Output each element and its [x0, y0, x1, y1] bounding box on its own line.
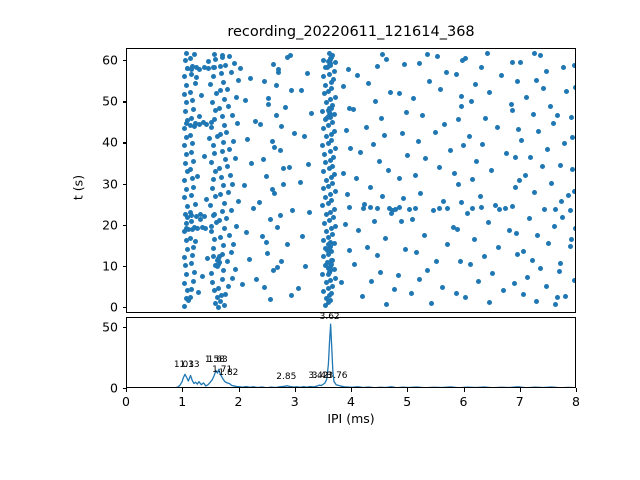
- scatter-point: [182, 304, 187, 309]
- scatter-point: [418, 191, 423, 196]
- scatter-point: [222, 97, 227, 102]
- scatter-point: [218, 64, 223, 69]
- scatter-point: [195, 174, 200, 179]
- scatter-point: [191, 107, 196, 112]
- scatter-point: [196, 290, 201, 295]
- scatter-point: [399, 219, 404, 224]
- scatter-point: [225, 259, 230, 264]
- scatter-point: [354, 176, 359, 181]
- scatter-point: [553, 207, 558, 212]
- scatter-point: [236, 78, 241, 83]
- scatter-point: [218, 235, 223, 240]
- scatter-point: [513, 155, 518, 160]
- scatter-point: [192, 270, 197, 275]
- scatter-point: [189, 116, 194, 121]
- scatter-point: [558, 261, 563, 266]
- scatter-point: [197, 114, 202, 119]
- scatter-point: [333, 146, 338, 151]
- scatter-point: [410, 217, 415, 222]
- scatter-point: [200, 274, 205, 279]
- scatter-point: [409, 291, 414, 296]
- scatter-point: [519, 138, 524, 143]
- scatter-point: [331, 77, 336, 82]
- scatter-point: [182, 195, 187, 200]
- scatter-point: [572, 63, 576, 68]
- scatter-point: [371, 142, 376, 147]
- peak-label: 3.62: [320, 312, 340, 322]
- scatter-point: [499, 73, 504, 78]
- scatter-point: [544, 69, 549, 74]
- histogram-x-tick-label: 0: [122, 394, 130, 409]
- scatter-point: [401, 196, 406, 201]
- scatter-point: [247, 257, 252, 262]
- scatter-point: [321, 169, 326, 174]
- scatter-point: [209, 229, 214, 234]
- scatter-point: [383, 236, 388, 241]
- scatter-point: [369, 279, 374, 284]
- matplotlib-figure: recording_20220611_121614_368 t (s) 0102…: [0, 0, 640, 480]
- scatter-point: [193, 81, 198, 86]
- scatter-point: [191, 279, 196, 284]
- scatter-point: [210, 100, 215, 105]
- scatter-point: [205, 256, 210, 261]
- scatter-point: [531, 112, 536, 117]
- scatter-point: [222, 303, 227, 308]
- scatter-point: [509, 102, 514, 107]
- scatter-point: [380, 194, 385, 199]
- scatter-point: [553, 302, 558, 307]
- raster-y-tick-label: 0: [84, 299, 118, 314]
- scatter-point: [224, 216, 229, 221]
- scatter-point: [191, 245, 196, 250]
- scatter-point: [190, 141, 195, 146]
- scatter-point: [190, 176, 195, 181]
- scatter-point: [339, 280, 344, 285]
- scatter-point: [190, 98, 195, 103]
- scatter-point: [524, 95, 529, 100]
- scatter-point: [213, 57, 218, 62]
- scatter-point: [469, 99, 474, 104]
- scatter-point: [208, 82, 213, 87]
- scatter-point: [455, 227, 460, 232]
- histogram-x-tick-label: 3: [291, 394, 299, 409]
- scatter-point: [497, 207, 502, 212]
- scatter-point: [300, 234, 305, 239]
- scatter-point: [220, 114, 225, 119]
- histogram-x-tick-mark: [239, 388, 240, 392]
- scatter-point: [372, 219, 377, 224]
- scatter-point: [231, 139, 236, 144]
- scatter-point: [347, 248, 352, 253]
- peak-label: 1.13: [180, 360, 200, 370]
- scatter-point: [233, 156, 238, 161]
- scatter-point: [459, 104, 464, 109]
- scatter-point: [528, 155, 533, 160]
- scatter-point: [366, 81, 371, 86]
- scatter-point: [232, 61, 237, 66]
- scatter-point: [281, 182, 286, 187]
- scatter-point: [485, 51, 490, 56]
- scatter-point: [226, 284, 231, 289]
- scatter-point: [532, 51, 537, 56]
- scatter-point: [358, 150, 363, 155]
- scatter-point: [258, 122, 263, 127]
- scatter-point: [333, 60, 338, 65]
- scatter-point: [473, 82, 478, 87]
- scatter-point: [189, 287, 194, 292]
- scatter-point: [479, 65, 484, 70]
- scatter-point: [483, 116, 488, 121]
- scatter-point: [270, 139, 275, 144]
- scatter-point: [184, 187, 189, 192]
- scatter-point: [510, 60, 515, 65]
- scatter-point: [534, 78, 539, 83]
- scatter-point: [568, 244, 573, 249]
- scatter-point: [299, 88, 304, 93]
- scatter-point: [414, 250, 419, 255]
- scatter-point: [182, 92, 187, 97]
- histogram-x-tick-label: 4: [347, 394, 355, 409]
- scatter-point: [538, 266, 543, 271]
- scatter-point: [254, 277, 259, 282]
- scatter-point: [226, 104, 231, 109]
- scatter-point: [572, 278, 576, 283]
- scatter-point: [184, 226, 189, 231]
- scatter-point: [240, 282, 245, 287]
- scatter-point: [411, 96, 416, 101]
- scatter-point: [225, 87, 230, 92]
- scatter-point: [347, 205, 352, 210]
- scatter-point: [538, 53, 543, 58]
- scatter-point: [352, 262, 357, 267]
- scatter-point: [243, 98, 248, 103]
- scatter-point: [515, 79, 520, 84]
- scatter-point: [501, 288, 506, 293]
- scatter-point: [218, 132, 223, 137]
- scatter-point: [341, 171, 346, 176]
- scatter-point: [207, 136, 212, 141]
- scatter-point: [289, 293, 294, 298]
- scatter-point: [220, 53, 225, 58]
- scatter-point: [228, 173, 233, 178]
- scatter-point: [444, 70, 449, 75]
- scatter-point: [223, 292, 228, 297]
- scatter-point: [229, 208, 234, 213]
- scatter-point: [570, 167, 575, 172]
- scatter-point: [296, 286, 301, 291]
- scatter-point: [332, 172, 337, 177]
- scatter-point: [442, 122, 447, 127]
- histogram-x-tick-mark: [464, 388, 465, 392]
- scatter-point: [305, 71, 310, 76]
- scatter-point: [384, 57, 389, 62]
- scatter-point: [332, 129, 337, 134]
- scatter-point: [193, 202, 198, 207]
- scatter-point: [184, 83, 189, 88]
- scatter-point: [566, 193, 571, 198]
- scatter-point: [221, 268, 226, 273]
- histogram-x-tick-mark: [351, 388, 352, 392]
- scatter-point: [435, 54, 440, 59]
- ipi-histogram-axes: [126, 317, 576, 388]
- scatter-point: [266, 102, 271, 107]
- scatter-point: [486, 220, 491, 225]
- scatter-point: [534, 299, 539, 304]
- raster-y-tick-label: 60: [84, 53, 118, 68]
- raster-y-tick-label: 30: [84, 176, 118, 191]
- scatter-point: [182, 281, 187, 286]
- histogram-x-tick-mark: [126, 388, 127, 392]
- scatter-point: [365, 245, 370, 250]
- figure-title: recording_20220611_121614_368: [126, 24, 576, 40]
- scatter-point: [544, 284, 549, 289]
- scatter-point: [433, 130, 438, 135]
- scatter-point: [573, 226, 576, 231]
- scatter-point: [223, 63, 228, 68]
- peak-label: 3.76: [327, 371, 347, 381]
- histogram-x-tick-label: 2: [235, 394, 243, 409]
- scatter-point: [507, 228, 512, 233]
- scatter-point: [188, 56, 193, 61]
- raster-y-tick-label: 10: [84, 258, 118, 273]
- scatter-point: [479, 205, 484, 210]
- scatter-point: [382, 133, 387, 138]
- scatter-point: [189, 261, 194, 266]
- scatter-point: [344, 128, 349, 133]
- scatter-point: [422, 233, 427, 238]
- scatter-point: [377, 159, 382, 164]
- scatter-point: [551, 121, 556, 126]
- scatter-point: [397, 205, 402, 210]
- scatter-point: [368, 185, 373, 190]
- scatter-point: [292, 131, 297, 136]
- scatter-point: [289, 88, 294, 93]
- scatter-point: [332, 69, 337, 74]
- peak-label: 1.63: [208, 355, 228, 365]
- scatter-point: [186, 298, 191, 303]
- ipi-raster-axes: [126, 48, 576, 313]
- scatter-point: [264, 174, 269, 179]
- scatter-point: [459, 200, 464, 205]
- scatter-point: [233, 267, 238, 272]
- scatter-point: [264, 240, 269, 245]
- scatter-point: [218, 192, 223, 197]
- scatter-point: [212, 237, 217, 242]
- scatter-point: [437, 165, 442, 170]
- scatter-point: [461, 143, 466, 148]
- scatter-point: [496, 245, 501, 250]
- scatter-point: [407, 207, 412, 212]
- scatter-point: [445, 206, 450, 211]
- scatter-point: [211, 177, 216, 182]
- scatter-point: [288, 53, 293, 58]
- histogram-trace: [127, 318, 576, 388]
- histogram-y-tick-label: 0: [84, 381, 118, 396]
- scatter-point: [184, 272, 189, 277]
- scatter-point: [329, 106, 334, 111]
- scatter-point: [211, 213, 216, 218]
- scatter-point: [202, 154, 207, 159]
- scatter-point: [503, 206, 508, 211]
- scatter-point: [306, 162, 311, 167]
- scatter-point: [569, 237, 574, 242]
- scatter-point: [516, 127, 521, 132]
- scatter-point: [378, 270, 383, 275]
- scatter-point: [431, 208, 436, 213]
- scatter-point: [555, 113, 560, 118]
- scatter-point: [219, 175, 224, 180]
- scatter-point: [568, 208, 573, 213]
- raster-y-tick-label: 40: [84, 135, 118, 150]
- scatter-point: [573, 85, 576, 90]
- scatter-point: [552, 224, 557, 229]
- scatter-point: [518, 60, 523, 65]
- histogram-x-axis-label: IPI (ms): [126, 411, 576, 426]
- scatter-point: [328, 240, 333, 245]
- histogram-x-tick-mark: [182, 388, 183, 392]
- scatter-point: [188, 90, 193, 95]
- scatter-point: [459, 94, 464, 99]
- scatter-point: [460, 58, 465, 63]
- histogram-y-tick-label: 50: [84, 319, 118, 334]
- scatter-point: [262, 285, 267, 290]
- scatter-point: [251, 206, 256, 211]
- scatter-point: [189, 219, 194, 224]
- scatter-point: [346, 67, 351, 72]
- scatter-point: [274, 113, 279, 118]
- scatter-point: [244, 230, 249, 235]
- scatter-point: [230, 113, 235, 118]
- scatter-point: [329, 138, 334, 143]
- scatter-point: [216, 286, 221, 291]
- scatter-point: [397, 176, 402, 181]
- scatter-point: [320, 109, 325, 114]
- scatter-point: [229, 70, 234, 75]
- scatter-point: [341, 84, 346, 89]
- scatter-point: [234, 224, 239, 229]
- scatter-point: [230, 276, 235, 281]
- scatter-point: [224, 130, 229, 135]
- scatter-point: [320, 203, 325, 208]
- scatter-point: [456, 182, 461, 187]
- scatter-point: [400, 131, 405, 136]
- scatter-point: [373, 99, 378, 104]
- scatter-point: [517, 178, 522, 183]
- scatter-point: [189, 193, 194, 198]
- scatter-point: [515, 252, 520, 257]
- scatter-point: [392, 287, 397, 292]
- scatter-point: [290, 208, 295, 213]
- scatter-point: [230, 182, 235, 187]
- scatter-point: [478, 194, 483, 199]
- scatter-point: [438, 87, 443, 92]
- scatter-point: [217, 106, 222, 111]
- scatter-point: [213, 194, 218, 199]
- scatter-point: [530, 258, 535, 263]
- scatter-point: [536, 129, 541, 134]
- scatter-point: [330, 120, 335, 125]
- scatter-point: [397, 91, 402, 96]
- scatter-point: [555, 295, 560, 300]
- scatter-point: [182, 255, 187, 260]
- scatter-point: [249, 161, 254, 166]
- scatter-point: [535, 233, 540, 238]
- scatter-point: [548, 104, 553, 109]
- raster-y-tick-mark: [123, 101, 127, 102]
- scatter-point: [231, 242, 236, 247]
- scatter-point: [405, 153, 410, 158]
- scatter-point: [188, 167, 193, 172]
- scatter-point: [480, 142, 485, 147]
- scatter-point: [525, 275, 530, 280]
- scatter-point: [283, 105, 288, 110]
- scatter-point: [487, 90, 492, 95]
- scatter-point: [199, 93, 204, 98]
- scatter-point: [303, 264, 308, 269]
- scatter-point: [425, 268, 430, 273]
- scatter-point: [260, 234, 265, 239]
- scatter-point: [307, 210, 312, 215]
- scatter-point: [557, 269, 562, 274]
- scatter-point: [416, 139, 421, 144]
- raster-y-tick-mark: [123, 266, 127, 267]
- histogram-x-tick-label: 7: [516, 394, 524, 409]
- peak-label: 1.82: [218, 368, 238, 378]
- histogram-x-tick-label: 1: [178, 394, 186, 409]
- scatter-point: [560, 215, 565, 220]
- scatter-point: [333, 224, 338, 229]
- scatter-point: [235, 121, 240, 126]
- scatter-point: [542, 207, 547, 212]
- scatter-point: [257, 200, 262, 205]
- raster-y-tick-mark: [123, 307, 127, 308]
- scatter-point: [489, 168, 494, 173]
- scatter-point: [513, 185, 518, 190]
- scatter-point: [222, 226, 227, 231]
- scatter-point: [332, 207, 337, 212]
- scatter-point: [238, 66, 243, 71]
- scatter-point: [223, 157, 228, 162]
- scatter-point: [521, 249, 526, 254]
- scatter-point: [386, 168, 391, 173]
- scatter-point: [211, 65, 216, 70]
- scatter-point: [236, 199, 241, 204]
- scatter-point: [182, 126, 187, 131]
- scatter-point: [404, 110, 409, 115]
- scatter-point: [217, 254, 222, 259]
- scatter-point: [546, 241, 551, 246]
- scatter-point: [437, 206, 442, 211]
- scatter-point: [279, 124, 284, 129]
- scatter-point: [361, 206, 366, 211]
- scatter-point: [210, 280, 215, 285]
- scatter-point: [212, 151, 217, 156]
- scatter-point: [183, 263, 188, 268]
- scatter-point: [323, 83, 328, 88]
- scatter-point: [261, 157, 266, 162]
- scatter-point: [320, 143, 325, 148]
- scatter-point: [504, 151, 509, 156]
- scatter-point: [454, 291, 459, 296]
- scatter-point: [221, 183, 226, 188]
- scatter-point: [329, 291, 334, 296]
- scatter-point: [209, 271, 214, 276]
- scatter-point: [329, 86, 334, 91]
- scatter-point: [320, 272, 325, 277]
- scatter-point: [472, 237, 477, 242]
- scatter-point: [384, 302, 389, 307]
- scatter-point: [309, 111, 314, 116]
